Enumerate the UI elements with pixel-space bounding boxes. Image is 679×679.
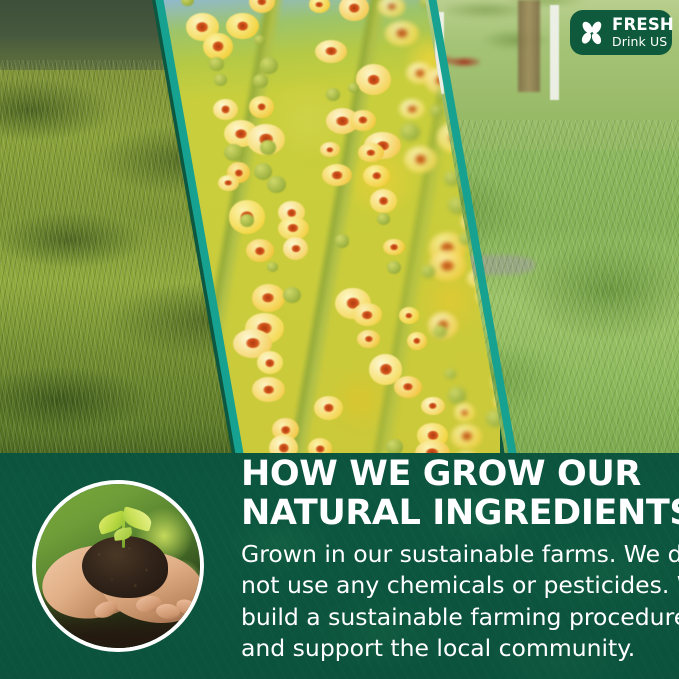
page-title: HOW WE GROW OUR NATURAL INGREDIENTS xyxy=(241,455,671,533)
body-line-3: build a sustainable farming procedure xyxy=(241,602,665,633)
headline-line-2: NATURAL INGREDIENTS xyxy=(241,494,671,533)
soil-mound xyxy=(82,536,168,598)
product-infographic-image: FRESH Drink US HOW WE GROW OUR NATURAL I… xyxy=(0,0,679,679)
logo-line-drink-us: Drink US xyxy=(612,36,674,49)
logo-line-fresh: FRESH xyxy=(612,17,674,34)
fresh-drink-us-logo[interactable]: FRESH Drink US xyxy=(570,10,672,55)
body-line-1: Grown in our sustainable farms. We do xyxy=(241,539,665,570)
photo-collage-strip xyxy=(0,0,679,455)
headline-line-1: HOW WE GROW OUR xyxy=(241,455,671,494)
soil-texture xyxy=(82,536,168,598)
body-line-2: not use any chemicals or pesticides. We xyxy=(241,570,665,601)
palm-trunk xyxy=(518,0,540,92)
white-post xyxy=(550,5,559,100)
logo-wordmark: FRESH Drink US xyxy=(612,17,674,48)
hands-holding-soil-sprout-photo xyxy=(32,480,204,652)
body-line-4: and support the local community. xyxy=(241,633,665,664)
body-paragraph: Grown in our sustainable farms. We do no… xyxy=(241,539,665,664)
four-petal-leaf-icon xyxy=(579,19,605,47)
